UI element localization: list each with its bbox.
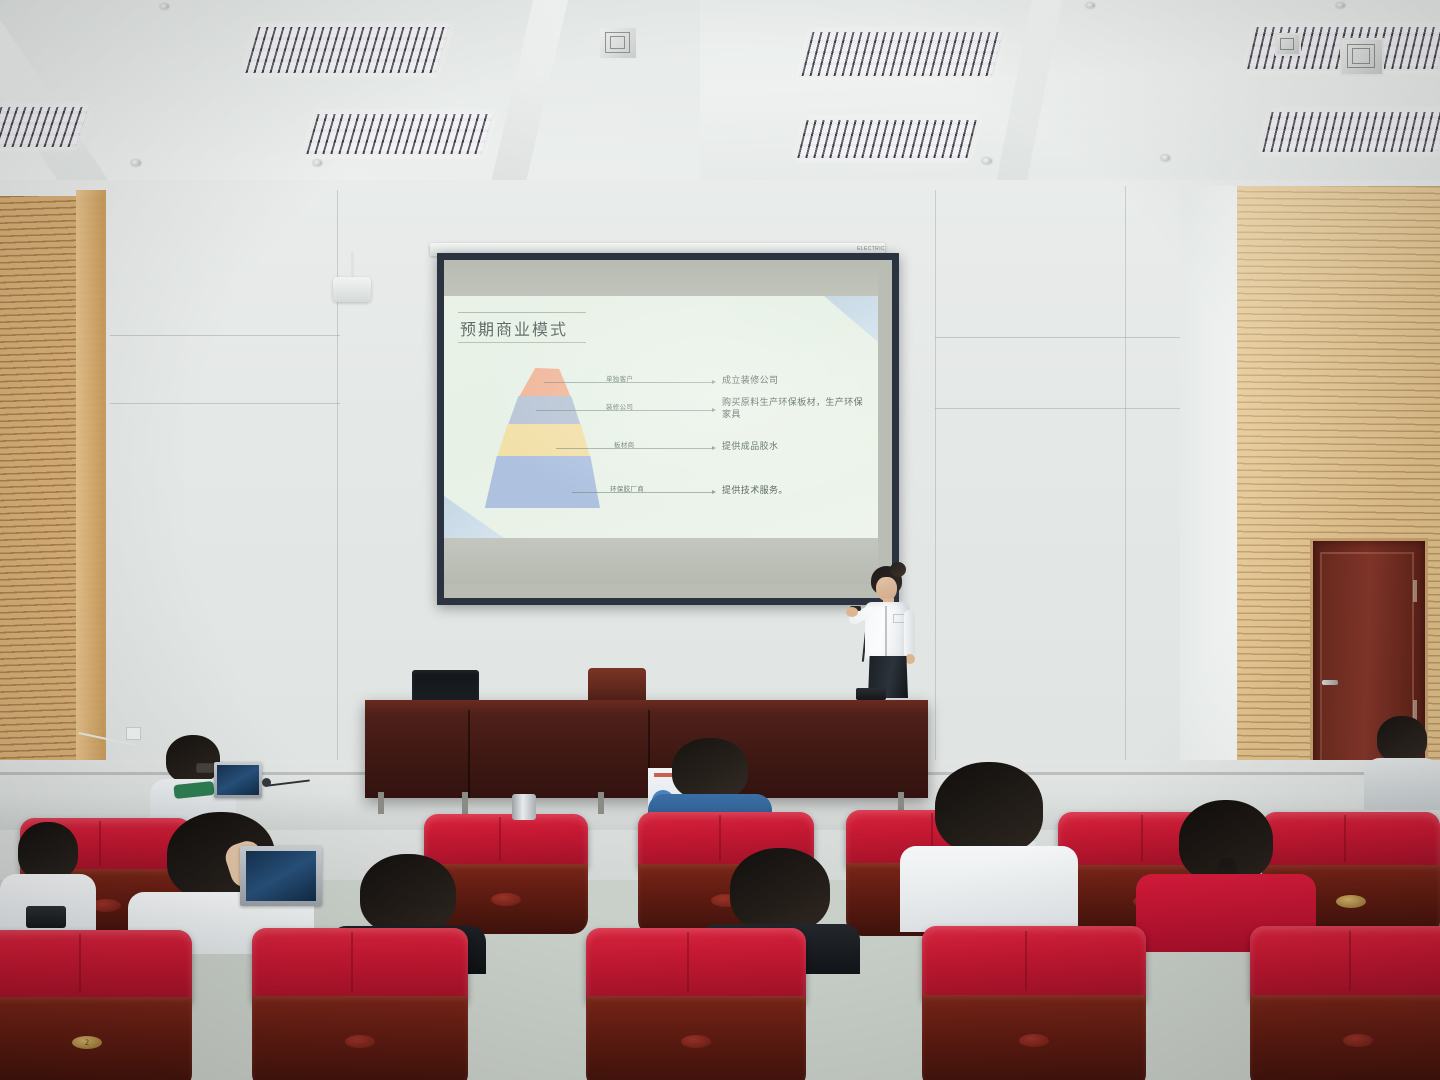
seat-back: [922, 926, 1146, 1001]
seat-number-plate: [1336, 895, 1366, 908]
fluorescent-light-panel: [1260, 110, 1440, 154]
laptop[interactable]: [856, 688, 886, 700]
slide-title-rule: [458, 312, 586, 313]
slide-title-rule: [458, 342, 586, 343]
wall-seam: [110, 403, 340, 404]
wall-socket: [126, 727, 141, 740]
tier-label: 单独客户: [606, 373, 633, 383]
smoke-detector-icon: [131, 160, 141, 166]
person-shirt: [1364, 758, 1440, 810]
auditorium-seat[interactable]: [252, 928, 468, 1080]
pyramid-layer-4: [480, 456, 600, 508]
microphone-head: [262, 778, 271, 787]
stage-desk: [365, 700, 928, 798]
smartphone[interactable]: [26, 906, 66, 928]
air-vent-icon: [1340, 38, 1384, 76]
person-head: [935, 762, 1043, 854]
smoke-detector-icon: [1161, 155, 1170, 161]
slide-corner-decoration: [824, 296, 878, 342]
pyramid-diagram: [480, 368, 600, 510]
presentation-slide: 预期商业模式 单独客户 成立装修公司 装修公司 购买原料生产环保板材，生产环保家…: [444, 296, 878, 538]
smoke-detector-icon: [313, 160, 322, 166]
tier-label: 板材商: [614, 439, 634, 449]
desk-seam: [468, 710, 470, 798]
air-vent-icon: [1275, 33, 1301, 56]
laptop[interactable]: [214, 762, 262, 798]
smoke-detector-icon: [982, 158, 992, 164]
presenter-right-arm: [904, 610, 915, 658]
smoke-detector-icon: [1086, 3, 1095, 8]
person-head: [730, 848, 830, 932]
tier-description: 提供成品胶水: [722, 441, 778, 453]
fluorescent-light-panel: [304, 112, 496, 156]
blouse-placket: [885, 606, 887, 656]
pyramid-layer-1: [480, 368, 600, 398]
seat-back: [252, 928, 468, 1003]
seat-back: [0, 930, 192, 1004]
wall-seam: [110, 335, 340, 336]
arrow-icon: [712, 446, 716, 450]
seat-number-plate: [681, 1035, 711, 1048]
door-hinge: [1413, 580, 1417, 602]
screen-bottom-band: [444, 536, 878, 584]
tier-description: 购买原料生产环保板材，生产环保家具: [722, 397, 868, 421]
presenter-hair-bun: [890, 562, 906, 577]
audience-member: [1364, 716, 1440, 808]
seat-back: [1250, 926, 1440, 1001]
ceiling-speaker: [333, 277, 371, 302]
auditorium-seat[interactable]: [1250, 926, 1440, 1080]
tier-label: 装修公司: [606, 401, 633, 411]
wall-pillar: [1180, 186, 1240, 806]
wall-seam: [935, 408, 1185, 409]
auditorium-seat[interactable]: [586, 928, 806, 1080]
ceiling-beam: [995, 0, 1070, 196]
air-vent-icon: [598, 26, 638, 60]
thermos-cup[interactable]: [512, 794, 536, 820]
fluorescent-light-panel: [0, 105, 91, 149]
arrow-icon: [712, 408, 716, 412]
seat-back: [586, 928, 806, 1003]
desk-leg: [378, 792, 384, 814]
fluorescent-light-panel: [795, 118, 979, 160]
audience-member: [1136, 800, 1316, 946]
stage-chair[interactable]: [588, 668, 646, 704]
tier-description: 成立装修公司: [722, 375, 778, 387]
seat-number-plate: [491, 893, 521, 906]
auditorium-seat[interactable]: [922, 926, 1146, 1080]
door-handle[interactable]: [1322, 680, 1338, 685]
smoke-detector-icon: [1336, 3, 1345, 8]
presenter: [846, 566, 938, 700]
person-head: [1377, 716, 1427, 762]
wall-seam: [1125, 186, 1126, 786]
seat-number-plate: [345, 1035, 375, 1048]
wood-panel-edge: [76, 190, 106, 810]
stage-chair[interactable]: [412, 670, 479, 704]
smoke-detector-icon: [160, 4, 169, 9]
person-head: [672, 738, 748, 800]
wall-seam: [935, 337, 1185, 338]
seat-number-plate: [1343, 1034, 1373, 1047]
audience-member: [900, 762, 1078, 926]
auditorium-seat[interactable]: 2: [0, 930, 192, 1080]
pyramid-layer-3: [480, 424, 600, 458]
pyramid-layer-2: [480, 396, 600, 426]
person-head: [166, 735, 220, 783]
seat-number-plate: 2: [72, 1036, 102, 1049]
fluorescent-light-panel: [243, 25, 451, 75]
tier-description: 提供技术服务。: [722, 485, 788, 497]
ceiling: [0, 0, 1440, 205]
person-head: [360, 854, 456, 934]
arrow-icon: [712, 490, 716, 494]
presenter-left-hand: [846, 607, 858, 617]
conference-hall-photo: ELECTRIC 预期商业模式 单独客户 成立装修公司 装修公司 购买原料生产环…: [0, 0, 1440, 1080]
desk-leg: [598, 792, 604, 814]
person-head: [18, 822, 78, 880]
screen-brand-label: ELECTRIC: [857, 246, 885, 252]
laptop[interactable]: [240, 846, 322, 906]
slide-title: 预期商业模式: [460, 316, 568, 340]
fluorescent-light-panel: [799, 30, 1005, 78]
wall-seam: [935, 190, 936, 790]
desk-leg: [462, 792, 468, 814]
tier-label: 环保胶厂商: [610, 483, 644, 493]
seat-number-plate: [1019, 1034, 1049, 1047]
person-shirt: [900, 846, 1078, 932]
arrow-icon: [712, 380, 716, 384]
